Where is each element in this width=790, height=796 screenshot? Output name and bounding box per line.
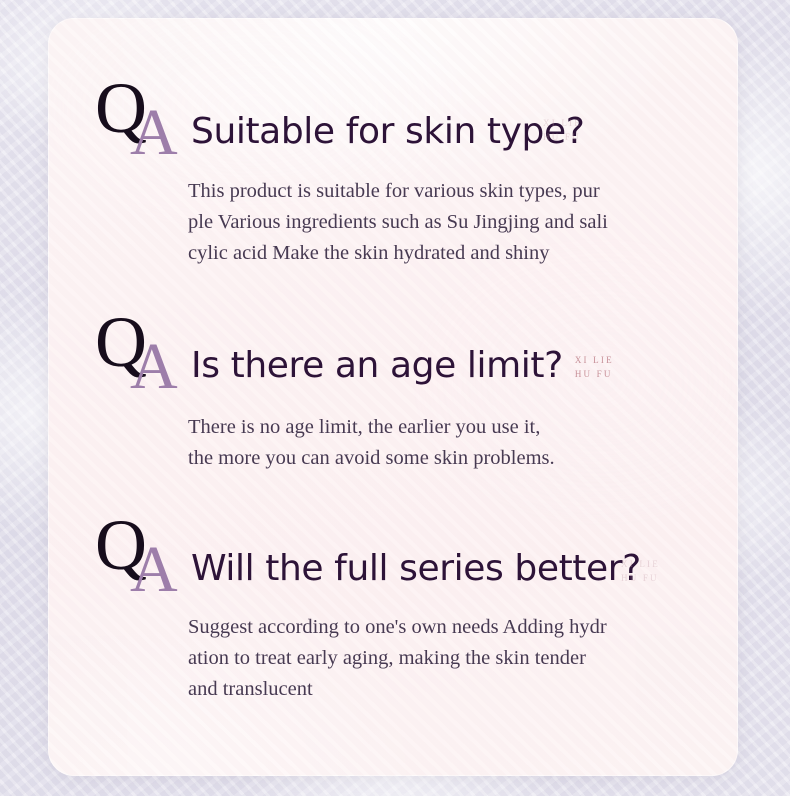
- qa-block-2: Q A Is there an age limit? XI LIE HU FU …: [48, 310, 738, 474]
- qa-heading-wrap-2: Is there an age limit? XI LIE HU FU: [191, 345, 614, 396]
- qa-card-content: Q A Suitable for skin type? XI LIE HU FU…: [48, 18, 738, 776]
- qa-answer-3: Suggest according to one's own needs Add…: [188, 612, 708, 705]
- qa-answer-1: This product is suitable for various ski…: [188, 176, 708, 269]
- side-mark-line1: XI LIE: [621, 558, 660, 572]
- qa-question-3: Will the full series better?: [191, 548, 641, 589]
- qa-heading-row-1: Q A Suitable for skin type? XI LIE HU FU: [48, 76, 738, 162]
- qa-block-1: Q A Suitable for skin type? XI LIE HU FU…: [48, 76, 738, 269]
- qa-question-1: Suitable for skin type?: [191, 111, 584, 152]
- side-mark-line1: XI LIE: [575, 354, 614, 368]
- monogram-a-letter: A: [130, 100, 178, 166]
- side-mark-line2: HU FU: [621, 572, 660, 586]
- qa-answer-2: There is no age limit, the earlier you u…: [188, 412, 708, 474]
- side-mark-label-2: XI LIE HU FU: [575, 354, 614, 386]
- qa-card: Q A Suitable for skin type? XI LIE HU FU…: [48, 18, 738, 776]
- qa-heading-wrap-3: Will the full series better? XI LIE HU F…: [191, 548, 641, 599]
- monogram-a-letter: A: [130, 334, 178, 400]
- side-mark-line1: XI LIE: [543, 117, 582, 131]
- page-background: Q A Suitable for skin type? XI LIE HU FU…: [0, 0, 790, 796]
- qa-monogram-icon: Q A: [95, 76, 187, 162]
- monogram-a-letter: A: [130, 537, 178, 603]
- qa-monogram-icon: Q A: [95, 310, 187, 396]
- qa-heading-wrap-1: Suitable for skin type? XI LIE HU FU: [191, 111, 584, 162]
- qa-monogram-icon: Q A: [95, 513, 187, 599]
- qa-heading-row-3: Q A Will the full series better? XI LIE …: [48, 513, 738, 599]
- side-mark-line2: HU FU: [543, 131, 582, 145]
- side-mark-watermark-1: XI LIE HU FU: [543, 117, 582, 145]
- side-mark-line2: HU FU: [575, 368, 614, 382]
- qa-heading-row-2: Q A Is there an age limit? XI LIE HU FU: [48, 310, 738, 396]
- qa-block-3: Q A Will the full series better? XI LIE …: [48, 513, 738, 705]
- qa-question-2: Is there an age limit?: [191, 345, 563, 386]
- side-mark-watermark-3: XI LIE HU FU: [621, 558, 660, 586]
